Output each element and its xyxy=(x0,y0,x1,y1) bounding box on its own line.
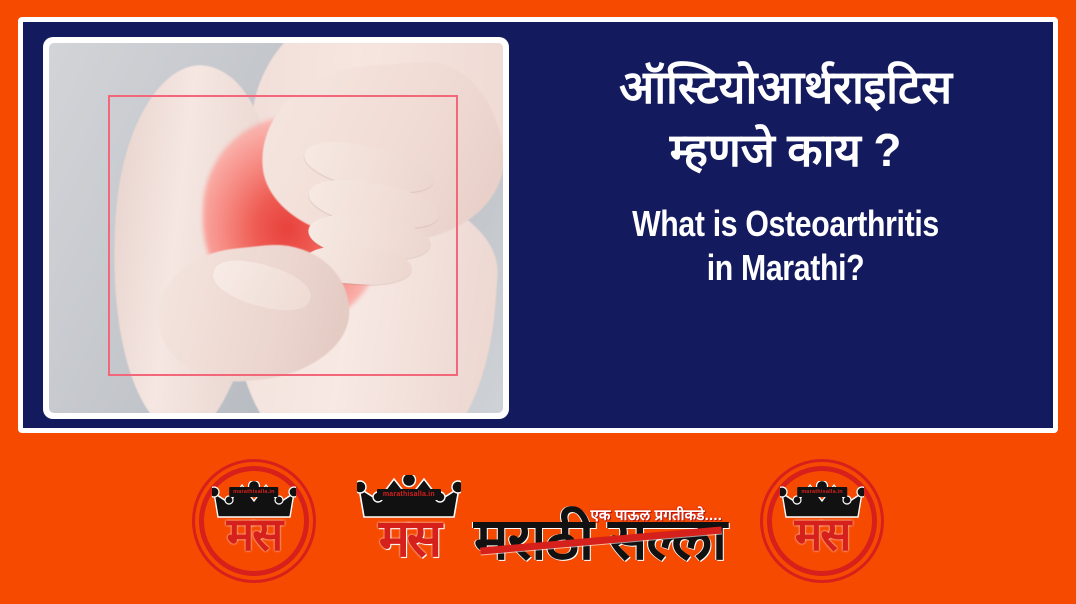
right-brand-badge[interactable]: marathisalla.in मस xyxy=(760,459,884,583)
left-brand-badge[interactable]: marathisalla.in मस xyxy=(192,459,316,583)
center-brand-wordmark[interactable]: marathisalla.in मस एक पाऊल प्रगतीकडे....… xyxy=(350,459,726,583)
wordmark-monogram: मस xyxy=(350,513,468,565)
english-subtitle-block: What is Osteoarthritis in Marathi? xyxy=(523,202,1048,290)
knee-photo-card xyxy=(43,37,509,419)
badge-monogram: मस xyxy=(192,511,316,557)
wordmark-text-group: एक पाऊल प्रगतीकडे.... मराठी सल्ला xyxy=(474,511,726,583)
navy-content-panel: ऑस्टियोआर्थराइटिस म्हणजे काय ? What is O… xyxy=(18,17,1058,433)
photo-overlay-frame xyxy=(108,95,458,376)
marathi-title-line-1: ऑस्टियोआर्थराइटिस xyxy=(523,58,1048,117)
marathi-title-line-2: म्हणजे काय ? xyxy=(523,121,1048,180)
brand-tagline: एक पाऊल प्रगतीकडे.... xyxy=(590,505,722,525)
knee-pain-photo xyxy=(49,43,503,413)
wordmark-monogram-mark: marathisalla.in मस xyxy=(350,459,468,583)
english-title-line-1: What is Osteoarthritis xyxy=(565,202,1006,246)
badge-crown-band-text: marathisalla.in xyxy=(797,487,847,497)
wordmark-crown-band-text: marathisalla.in xyxy=(377,489,441,500)
poster-canvas: ऑस्टियोआर्थराइटिस म्हणजे काय ? What is O… xyxy=(0,0,1076,604)
badge-monogram: मस xyxy=(760,511,884,557)
headline-block: ऑस्टियोआर्थराइटिस म्हणजे काय ? What is O… xyxy=(523,58,1048,290)
english-title-line-2: in Marathi? xyxy=(565,246,1006,290)
badge-crown-band-text: marathisalla.in xyxy=(229,487,279,497)
brand-logo-band: marathisalla.in मस marathisalla.in मस एक… xyxy=(0,437,1076,604)
